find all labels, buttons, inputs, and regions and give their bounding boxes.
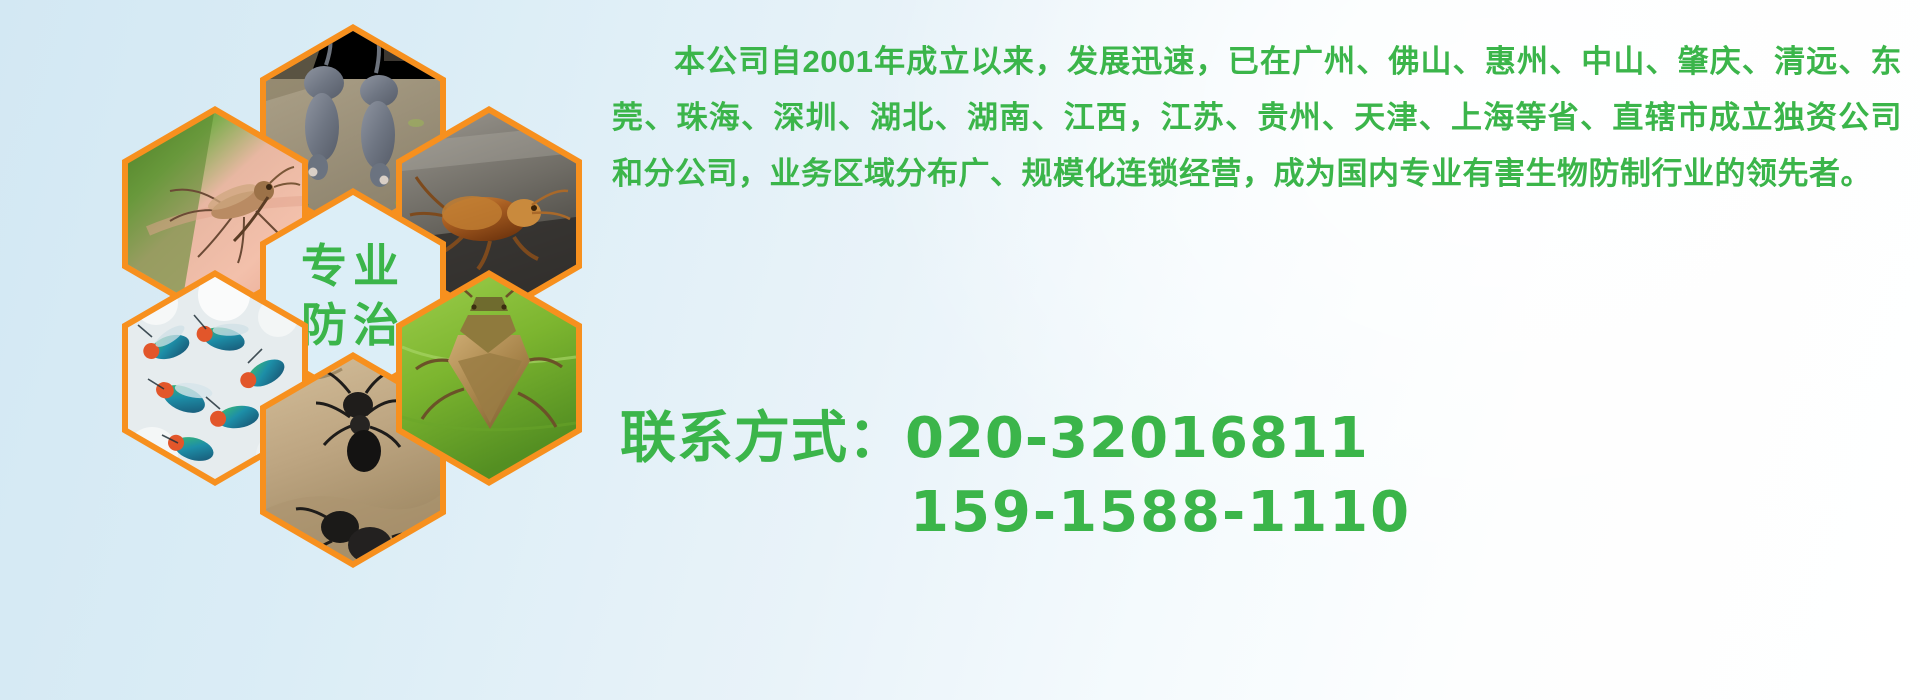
logo-line-1: 专业 [301, 237, 405, 296]
contact-mobile[interactable]: 159-1588-1110 [620, 476, 1900, 550]
intro-block: 本公司自2001年成立以来，发展迅速，已在广州、佛山、惠州、中山、肇庆、清远、东… [612, 34, 1902, 202]
intro-paragraph: 本公司自2001年成立以来，发展迅速，已在广州、佛山、惠州、中山、肇庆、清远、东… [612, 34, 1902, 202]
honeycomb-gallery: 专业 防治 [108, 10, 578, 570]
stinkbug-illustration [402, 277, 576, 479]
promo-banner: 专业 防治 [0, 0, 1920, 700]
stinkbug-photo [402, 277, 576, 479]
logo-line-2: 防治 [301, 296, 405, 355]
contact-landline[interactable]: 联系方式：020-32016811 [620, 402, 1900, 476]
contact-block: 联系方式：020-32016811 159-1588-1110 [620, 402, 1900, 550]
